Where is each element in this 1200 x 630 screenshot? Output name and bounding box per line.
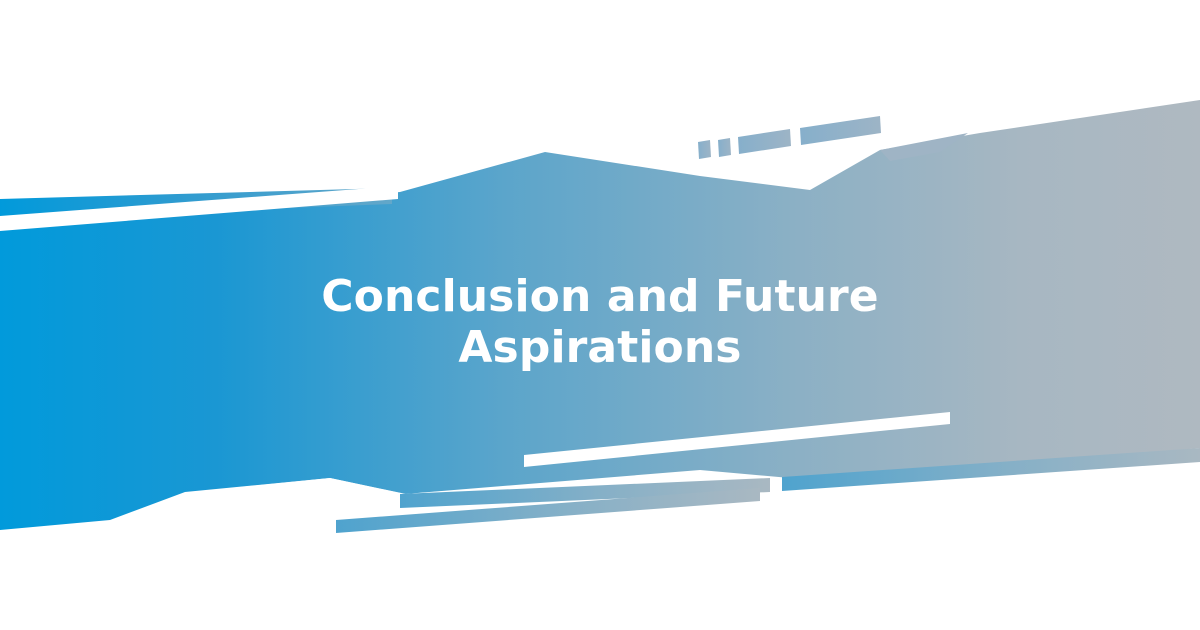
decorative-banner-graphic: [0, 0, 1200, 630]
top-dash-3: [738, 129, 791, 154]
slide-canvas: Conclusion and Future Aspirations: [0, 0, 1200, 630]
top-dash-2: [718, 138, 731, 157]
top-dash-group: [698, 116, 881, 159]
top-dash-1: [698, 140, 711, 159]
top-dash-4: [800, 116, 881, 145]
